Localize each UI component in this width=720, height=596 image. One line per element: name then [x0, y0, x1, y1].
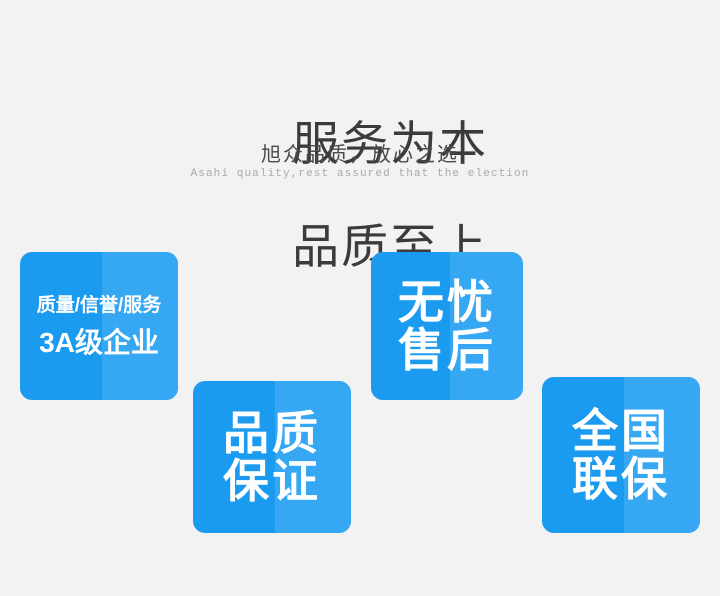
card-label-line2: 售后: [398, 326, 496, 374]
page-subtitle-cn: 旭众品质，放心之选: [0, 138, 720, 167]
page-subtitle-en: Asahi quality,rest assured that the elec…: [0, 168, 720, 180]
badge-card-worry-free-service: 无忧 售后: [371, 252, 523, 400]
card-label-line2: 保证: [223, 457, 321, 505]
promo-banner: 服务为本 品质至上 旭众品质，放心之选 Asahi quality,rest a…: [0, 0, 720, 596]
badge-card-3a-enterprise: 质量/信誉/服务 3A级企业: [20, 252, 178, 400]
card-label-line2: 3A级企业: [39, 329, 159, 357]
card-label-line1: 质量/信誉/服务: [37, 296, 162, 315]
card-label-line1: 品质: [223, 409, 321, 457]
card-label-line1: 全国: [572, 407, 670, 455]
card-label-line2: 联保: [572, 455, 670, 503]
card-content: 品质 保证: [193, 381, 351, 533]
badge-card-quality-guarantee: 品质 保证: [193, 381, 351, 533]
card-content: 全国 联保: [542, 377, 700, 533]
badge-card-nationwide-warranty: 全国 联保: [542, 377, 700, 533]
card-label-line1: 无忧: [398, 278, 496, 326]
card-content: 质量/信誉/服务 3A级企业: [20, 252, 178, 400]
card-content: 无忧 售后: [371, 252, 523, 400]
